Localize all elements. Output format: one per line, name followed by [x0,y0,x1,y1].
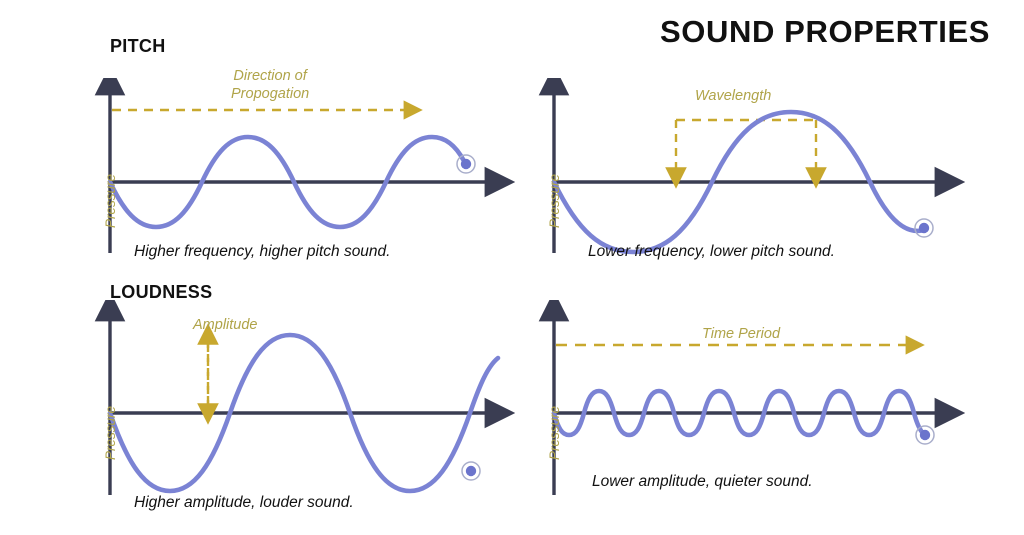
annotation-amplitude: Amplitude [193,317,257,335]
annotation-direction-line2: Propogation [231,86,309,104]
annotation-time-period: Time Period [702,326,780,344]
annotation-wavelength: Wavelength [695,88,771,106]
caption-top-right: Lower frequency, lower pitch sound. [588,243,835,261]
caption-bottom-left: Higher amplitude, louder sound. [134,494,354,512]
caption-bottom-right: Lower amplitude, quieter sound. [592,473,813,491]
page-title: SOUND PROPERTIES [660,14,990,50]
y-axis-label-bottom-right: Pressure [547,406,562,460]
annotation-direction-line1: Direction of [231,68,309,86]
wave-endpoint-dot-top-left [461,159,471,169]
wave-endpoint-dot-bottom-right [920,430,930,440]
wave-endpoint-dot-top-right [919,223,929,233]
wave-endpoint-dot-bottom-left [466,466,476,476]
y-axis-label-bottom-left: Pressure [103,406,118,460]
annotation-direction-of-propagation: Direction of Propogation [231,68,309,103]
sound-properties-diagram: SOUND PROPERTIES PITCH LOUDNESS [0,0,1024,535]
section-heading-pitch: PITCH [110,36,166,57]
caption-top-left: Higher frequency, higher pitch sound. [134,243,390,261]
waveform-bottom-left [84,300,554,515]
panel-bottom-left: Pressure [84,300,554,515]
y-axis-label-top-left: Pressure [103,174,118,228]
y-axis-label-top-right: Pressure [547,174,562,228]
